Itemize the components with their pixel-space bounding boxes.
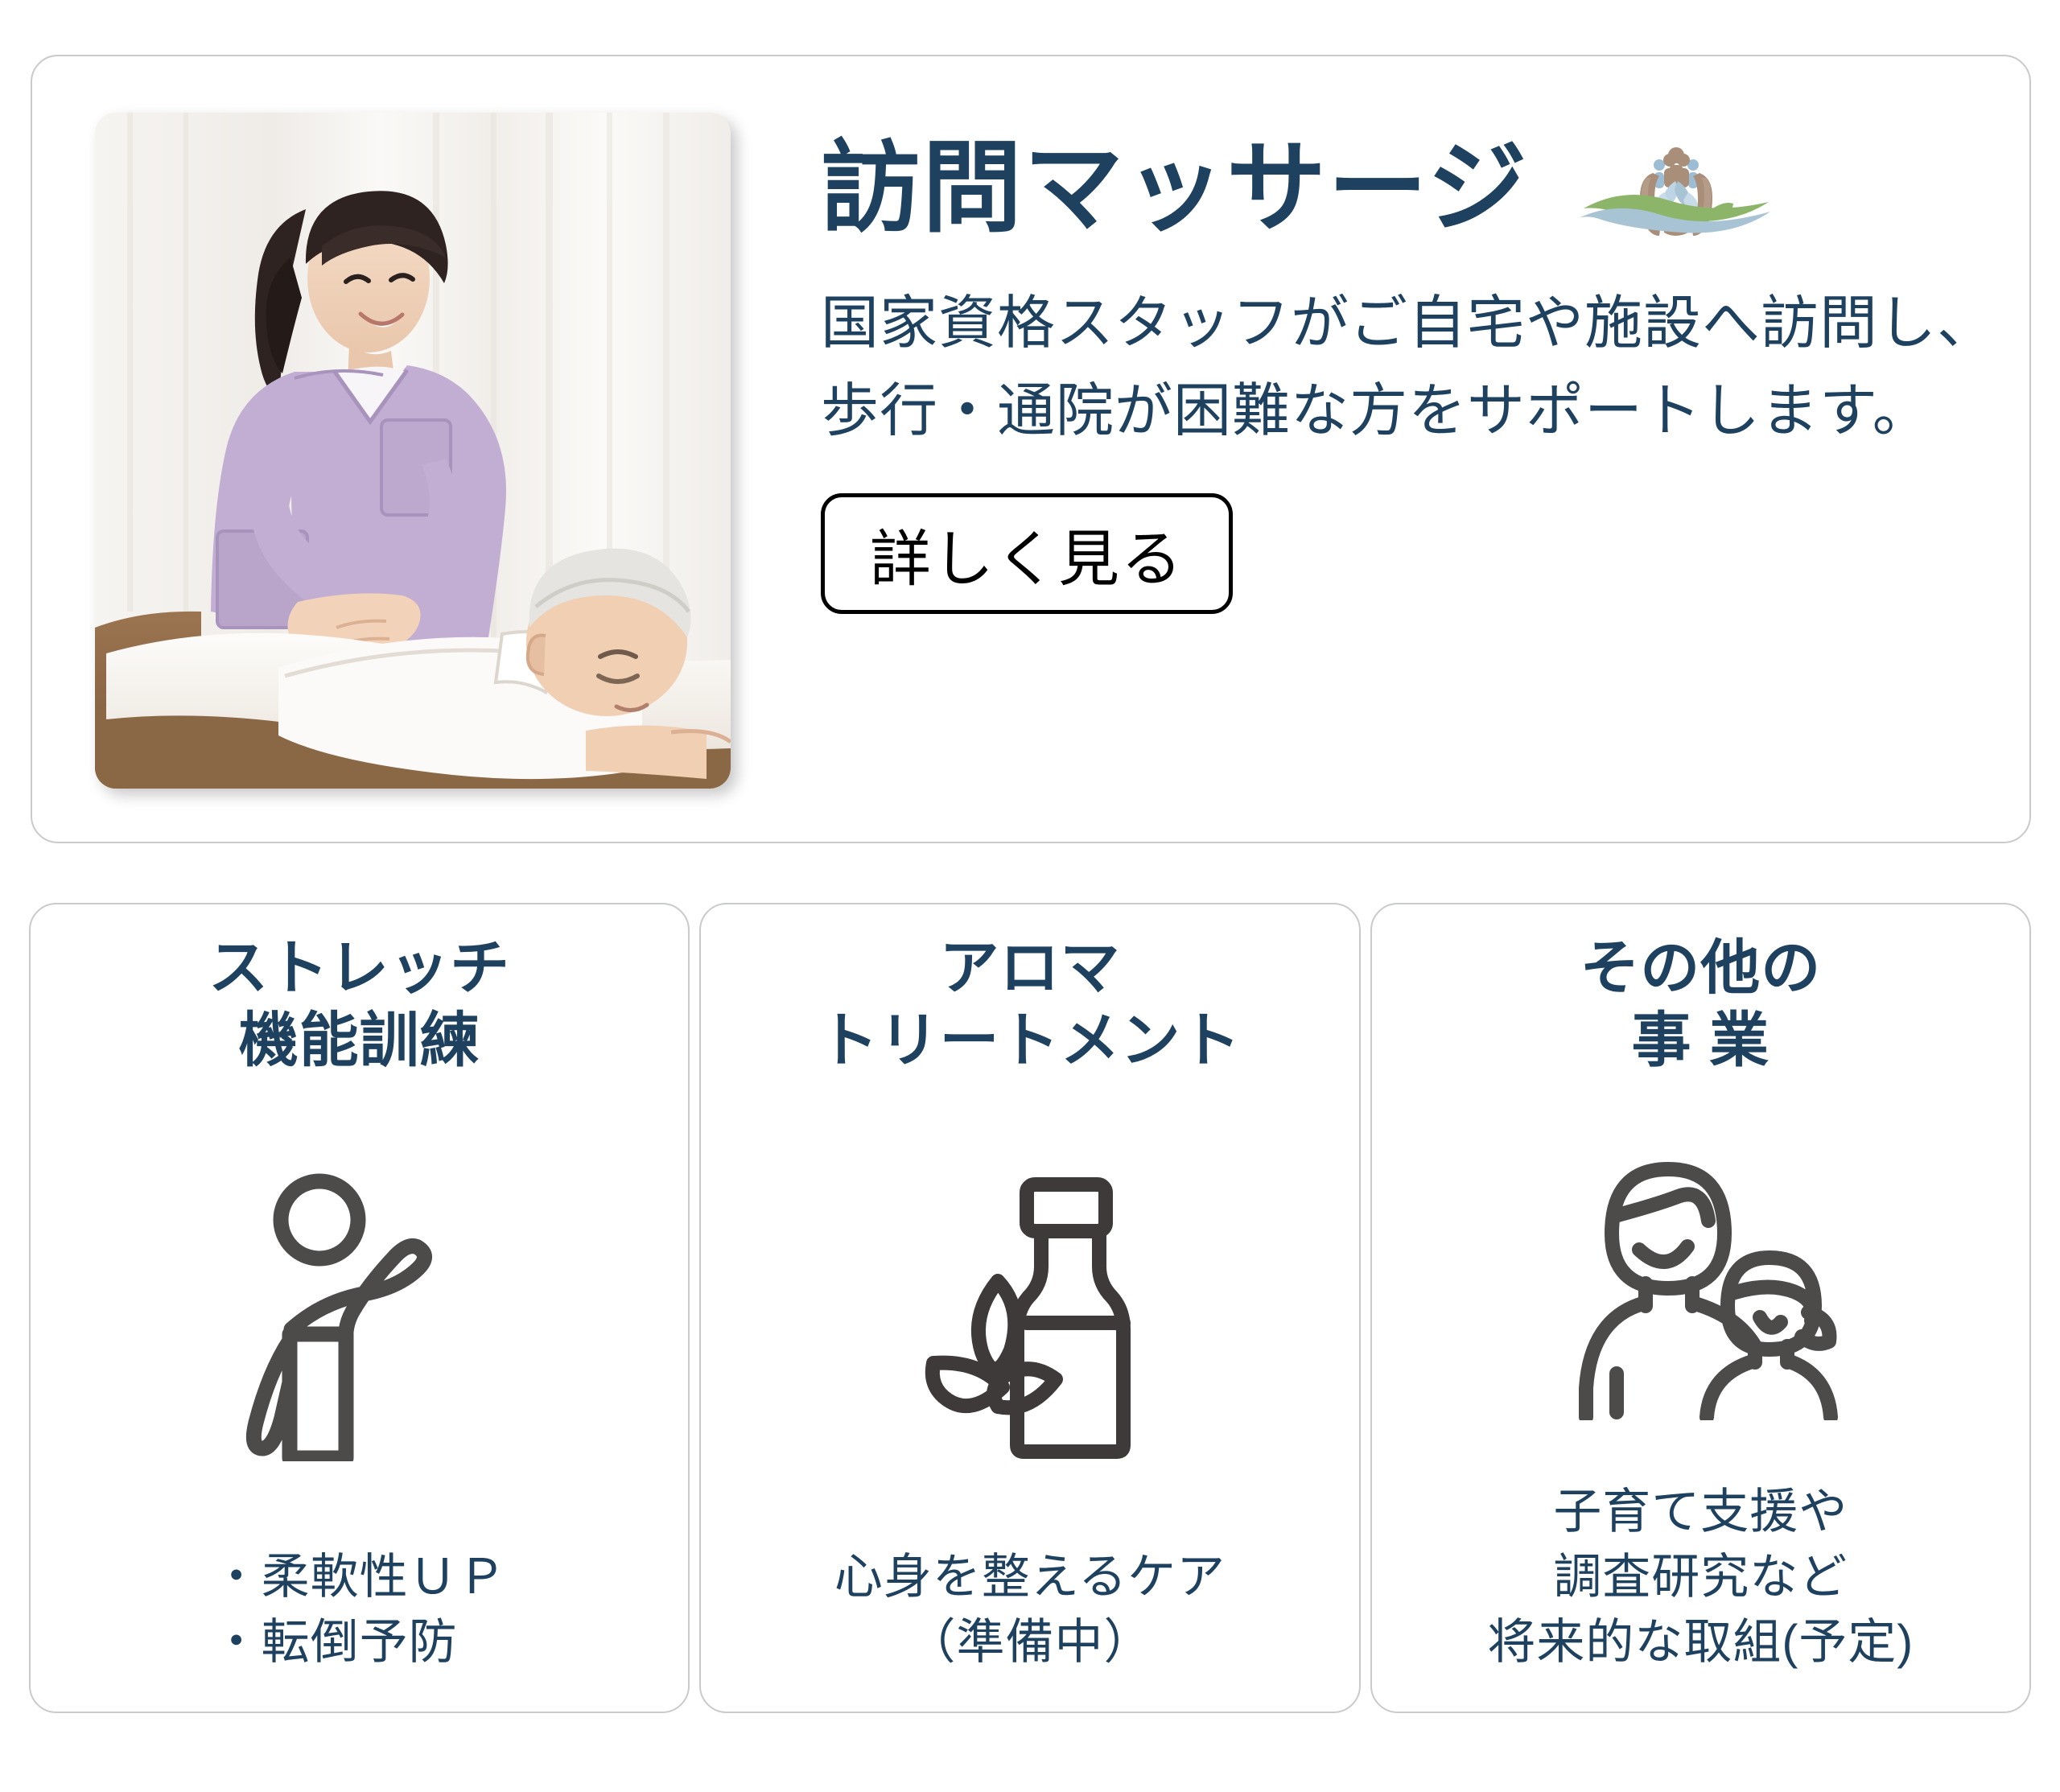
page-title: 訪問マッサージ — [821, 138, 1529, 238]
feature-card-title: その他の 事 業 — [1580, 932, 1821, 1077]
aroma-icon-svg — [909, 1172, 1151, 1461]
hero-card: 訪問マッサージ — [31, 55, 2031, 843]
massage-photo-illustration — [95, 113, 731, 789]
feature-cards-row: ストレッチ 機能訓練 ・柔軟性ＵＰ ・転倒予防 アロマ トリートメント — [29, 903, 2031, 1713]
feature-card-description: 心身を整えるケア （準備中） — [834, 1544, 1226, 1687]
hands-people-leaves-waves-logo-icon — [1576, 136, 1777, 241]
feature-card-stretch[interactable]: ストレッチ 機能訓練 ・柔軟性ＵＰ ・転倒予防 — [29, 903, 690, 1713]
feature-card-title: アロマ トリートメント — [818, 932, 1241, 1077]
hero-title-row: 訪問マッサージ — [821, 116, 1996, 261]
view-details-button[interactable]: 詳しく見る — [821, 493, 1233, 614]
feature-card-description: ・柔軟性ＵＰ ・転倒予防 — [212, 1544, 507, 1687]
logo-svg — [1576, 136, 1777, 241]
feature-card-title: ストレッチ 機能訓練 — [208, 932, 510, 1077]
hero-description: 国家資格スタッフがご自宅や施設へ訪問し、歩行・通院が困難な方をサポートします。 — [821, 280, 1996, 456]
stretch-icon-svg — [227, 1172, 492, 1461]
hero-content: 訪問マッサージ — [821, 116, 1996, 792]
feature-card-description: 子育て支援や 調査研究など 将来的な取組(予定) — [1487, 1479, 1914, 1687]
aroma-oil-bottle-leaves-icon — [715, 1077, 1344, 1544]
people-icon-svg — [1562, 1147, 1840, 1420]
feature-card-aroma[interactable]: アロマ トリートメント 心身を整えるケア （準備中） — [699, 903, 1360, 1713]
stretching-person-icon — [45, 1077, 674, 1544]
two-people-parent-child-icon — [1386, 1077, 2015, 1479]
hero-photo — [95, 113, 731, 789]
page-root: 訪問マッサージ — [0, 0, 2060, 1792]
feature-card-other[interactable]: その他の 事 業 — [1370, 903, 2031, 1713]
